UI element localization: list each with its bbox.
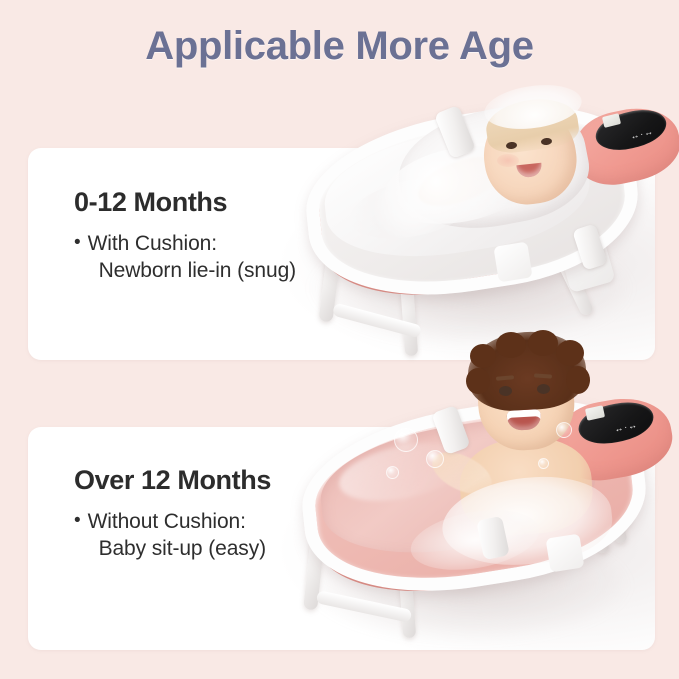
page-title: Applicable More Age xyxy=(0,24,679,69)
bullet-marker-icon: • xyxy=(74,508,81,533)
age-card-over-12-months: Over 12 Months • Without Cushion: Baby s… xyxy=(28,427,655,650)
toddler-eyebrow-right xyxy=(534,373,552,378)
foam-on-head xyxy=(482,79,585,134)
age-card-0-12-months: 0-12 Months • With Cushion: Newborn lie-… xyxy=(28,148,655,360)
hair-curl xyxy=(466,368,490,394)
card-text-block: 0-12 Months • With Cushion: Newborn lie-… xyxy=(74,188,296,285)
card-text-block: Over 12 Months • Without Cushion: Baby s… xyxy=(74,466,271,563)
card-glow xyxy=(266,148,655,360)
hair-curl xyxy=(566,366,590,394)
bullet-line-secondary: Newborn lie-in (snug) xyxy=(88,257,296,285)
bullet-line-secondary: Baby sit-up (easy) xyxy=(88,535,266,563)
thermometer-lcd-display xyxy=(602,113,621,128)
toddler-eyebrow-left xyxy=(496,375,514,381)
card-bullet: • With Cushion: Newborn lie-in (snug) xyxy=(74,230,296,285)
card-bullet: • Without Cushion: Baby sit-up (easy) xyxy=(74,508,271,563)
thermometer-marks-icon: ↔·↔ xyxy=(629,124,661,143)
bullet-marker-icon: • xyxy=(74,230,81,255)
product-infographic: Applicable More Age 0-12 Months • With C… xyxy=(0,0,679,679)
toddler-eye-right xyxy=(537,384,550,394)
bullet-line-primary: With Cushion: xyxy=(88,230,296,258)
bullet-line-primary: Without Cushion: xyxy=(88,508,266,536)
card-heading: 0-12 Months xyxy=(74,188,296,218)
baby-eye-right xyxy=(541,137,553,145)
bullet-lines: With Cushion: Newborn lie-in (snug) xyxy=(88,230,296,285)
toddler-eye-left xyxy=(499,386,512,396)
baby-hair xyxy=(483,94,581,156)
thermometer-lcd-display xyxy=(585,405,605,420)
bullet-lines: Without Cushion: Baby sit-up (easy) xyxy=(88,508,266,563)
card-heading: Over 12 Months xyxy=(74,466,271,496)
card-glow xyxy=(266,427,655,650)
